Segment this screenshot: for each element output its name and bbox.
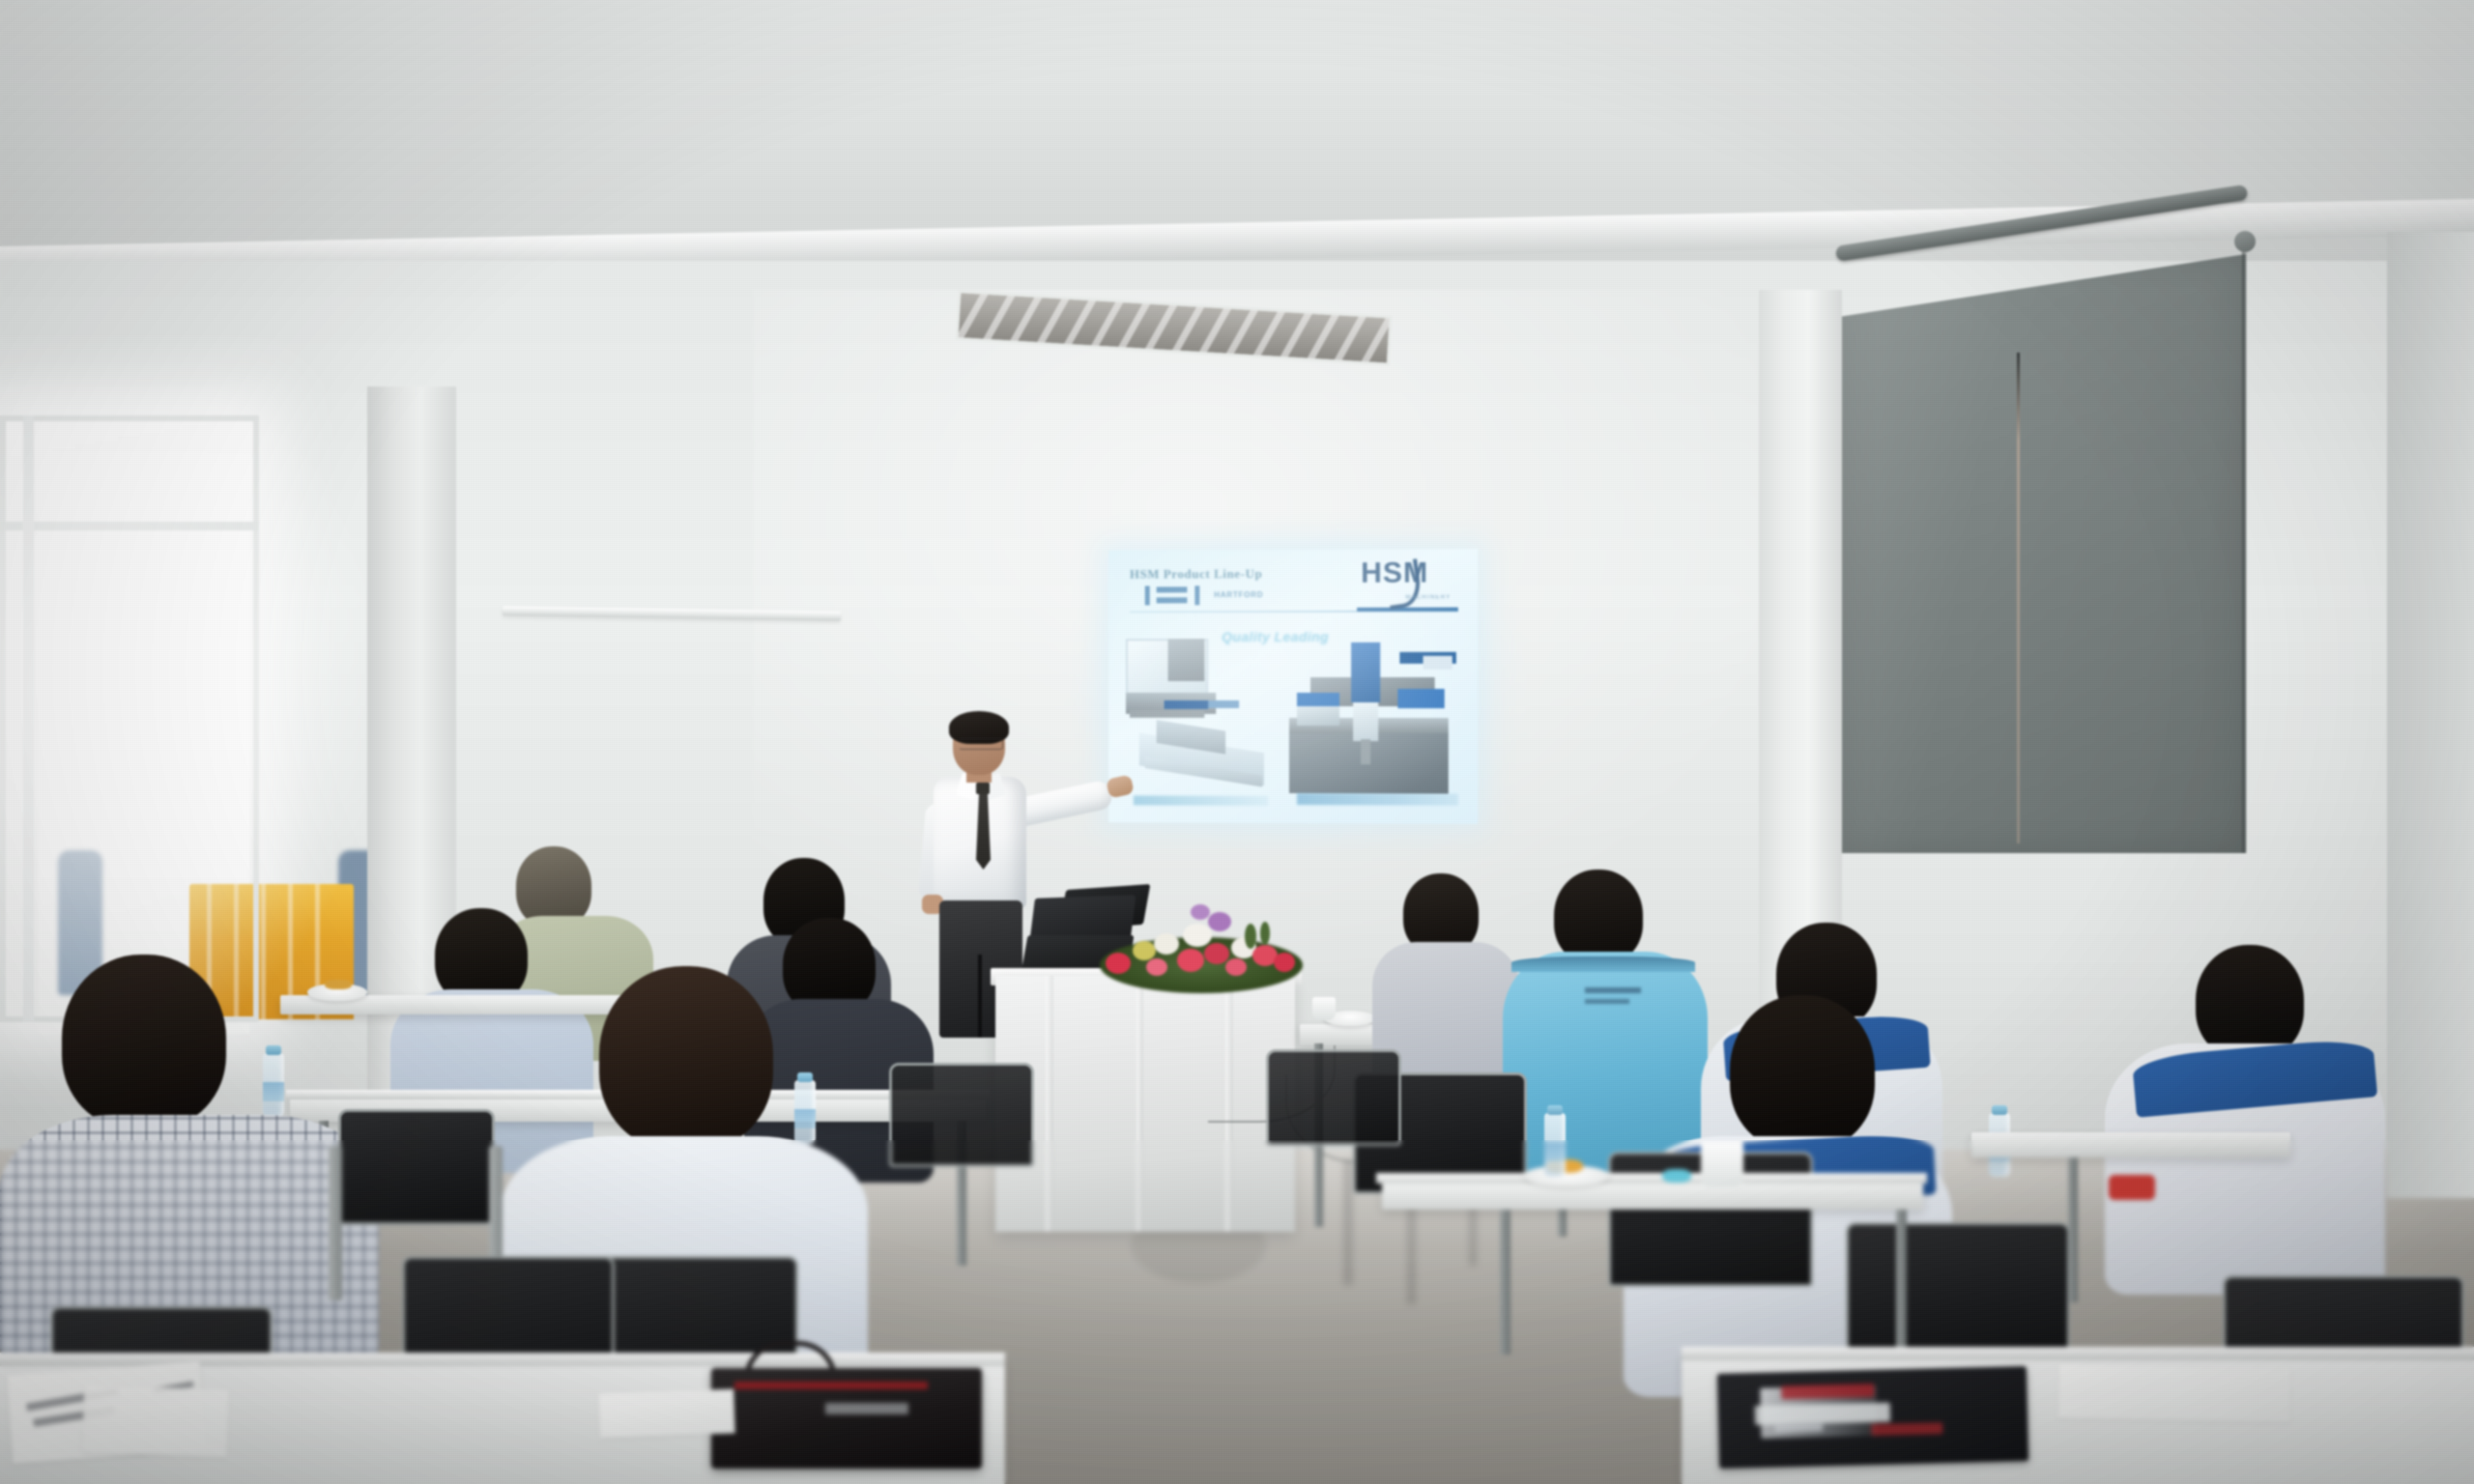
bottle-cap	[266, 1045, 281, 1055]
hsm-logo-subtitle: MACHINERY	[1405, 595, 1451, 601]
table-leg	[2068, 1157, 2078, 1302]
bottle-cap	[797, 1072, 813, 1082]
bottle-cap	[1992, 1105, 2007, 1115]
table-edge	[1682, 1347, 2474, 1360]
hsm-logo-icon: HSM MACHINERY	[1361, 556, 1460, 610]
window-jamb	[23, 415, 34, 1022]
machine-a-label-2	[1208, 700, 1239, 708]
blind-edge	[2242, 250, 2247, 853]
attendee-head	[599, 966, 773, 1150]
chair[interactable]	[338, 1109, 495, 1225]
water-bottle	[263, 1053, 284, 1117]
water-bottle	[1544, 1113, 1566, 1177]
presenter-tie-knot	[976, 783, 990, 794]
hsm-logo-swoosh	[1384, 558, 1424, 610]
table-edge	[1376, 1173, 1927, 1184]
handout-paper[interactable]	[598, 1389, 735, 1439]
table-leg	[1896, 1210, 1907, 1364]
slide-footer-left	[1134, 795, 1268, 805]
table-leg	[1500, 1210, 1510, 1355]
floral-arrangement	[1090, 899, 1312, 1000]
handout-paper[interactable]	[2058, 1364, 2291, 1422]
polo-logo-line2	[1585, 999, 1629, 1004]
machine-c-label-2	[1424, 656, 1453, 670]
attendee-head	[62, 955, 226, 1128]
blind-end-cap	[2234, 231, 2256, 252]
cup	[1312, 997, 1336, 1020]
attendee-body	[1503, 952, 1708, 1174]
red-item	[2109, 1175, 2155, 1200]
slide-title: HSM Product Line-Up	[1130, 566, 1262, 582]
catalog-text	[1774, 1423, 1823, 1432]
window-frame	[0, 415, 259, 1022]
blind-sheen	[1842, 254, 2246, 853]
briefcase-bag[interactable]	[711, 1368, 982, 1469]
cup	[1701, 1142, 1743, 1186]
chair[interactable]	[1846, 1222, 2070, 1367]
roller-blind[interactable]	[1836, 246, 2261, 1019]
seminar-room-photo: HSM Product Line-Up HARTFORD HSM MACHINE…	[0, 0, 2474, 1484]
machine-illustration-c	[1289, 635, 1456, 800]
food	[325, 980, 352, 989]
bottle-cap	[1547, 1105, 1563, 1115]
polo-logo	[1585, 987, 1641, 993]
catalog-accent	[1871, 1422, 1942, 1436]
chair[interactable]	[889, 1063, 1034, 1167]
floor-reflection	[1343, 1159, 1353, 1285]
blind-pull-cord[interactable]	[2017, 353, 2020, 843]
attendee-head	[1554, 870, 1643, 964]
projected-slide: HSM Product Line-Up HARTFORD HSM MACHINE…	[1108, 549, 1478, 824]
hartford-logo-mark-icon	[1145, 585, 1205, 605]
slide-brand-word: HARTFORD	[1214, 590, 1263, 599]
water-bottle	[794, 1080, 816, 1144]
presenter-glasses-icon	[959, 738, 1003, 750]
slide-footer-right	[1297, 793, 1458, 806]
chair[interactable]	[1266, 1049, 1401, 1146]
table-row	[1382, 1181, 1923, 1210]
attendee-head	[2196, 945, 2304, 1059]
machine-illustration-b	[1139, 722, 1274, 797]
food	[1662, 1169, 1691, 1183]
machine-a-label	[1165, 700, 1209, 709]
polo-collar	[1511, 956, 1695, 972]
attendee-head	[1730, 995, 1875, 1150]
catalog-accent	[1781, 1384, 1874, 1399]
handout-paper[interactable]	[82, 1384, 229, 1457]
structural-column-far-right	[2387, 232, 2474, 1198]
chair-leg	[329, 1146, 342, 1300]
catalog-image	[1755, 1403, 1890, 1425]
product-catalog[interactable]	[1717, 1366, 2028, 1469]
table-row	[1971, 1132, 2290, 1157]
window-mullion	[0, 522, 259, 530]
